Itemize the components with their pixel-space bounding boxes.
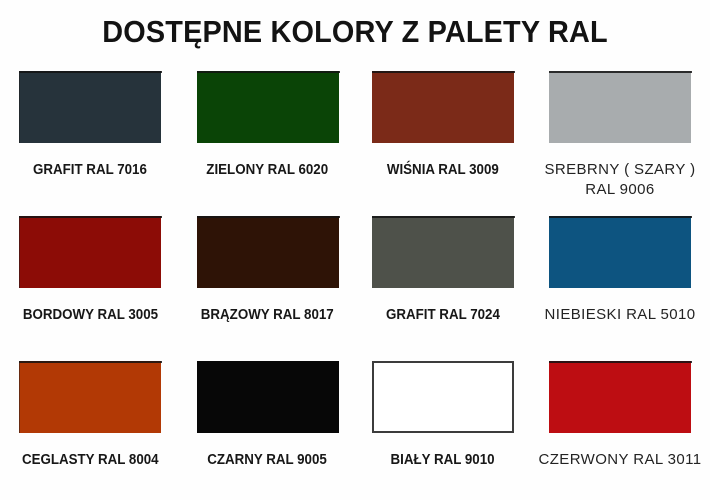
swatch-label-line1: BRĄZOWY RAL 8017	[201, 305, 334, 325]
swatch-cell-wisnia-3009[interactable]: WIŚNIA RAL 3009	[355, 66, 530, 211]
swatch-label-zielony-6020: ZIELONY RAL 6020	[207, 160, 329, 180]
swatch-label-wisnia-3009: WIŚNIA RAL 3009	[387, 160, 499, 180]
color-palette-sheet: DOSTĘPNE KOLORY Z PALETY RAL GRAFIT RAL …	[0, 0, 710, 500]
swatch-cell-czerwony-3011[interactable]: CZERWONY RAL 3011	[530, 356, 710, 496]
swatch-label-brazowy-8017: BRĄZOWY RAL 8017	[201, 305, 334, 325]
color-chip-niebieski-5010[interactable]	[549, 216, 691, 288]
swatch-cell-brazowy-8017[interactable]: BRĄZOWY RAL 8017	[180, 211, 355, 356]
swatch-label-line1: NIEBIESKI RAL 5010	[545, 305, 696, 325]
swatch-label-line1: GRAFIT RAL 7024	[386, 305, 500, 325]
swatch-cell-zielony-6020[interactable]: ZIELONY RAL 6020	[180, 66, 355, 211]
color-chip-zielony-6020[interactable]	[197, 71, 339, 143]
swatch-cell-bordowy-3005[interactable]: BORDOWY RAL 3005	[0, 211, 180, 356]
swatch-label-line1: BIAŁY RAL 9010	[390, 450, 494, 470]
swatch-label-srebrny-9006: SREBRNY ( SZARY ) RAL 9006	[544, 160, 695, 200]
color-chip-brazowy-8017[interactable]	[197, 216, 339, 288]
color-chip-grafit-7016[interactable]	[19, 71, 161, 143]
swatch-label-czarny-9005: CZARNY RAL 9005	[208, 450, 328, 470]
swatch-label-bordowy-3005: BORDOWY RAL 3005	[22, 305, 157, 325]
swatch-cell-niebieski-5010[interactable]: NIEBIESKI RAL 5010	[530, 211, 710, 356]
swatch-cell-grafit-7024[interactable]: GRAFIT RAL 7024	[355, 211, 530, 356]
swatch-label-line1: BORDOWY RAL 3005	[22, 305, 157, 325]
swatch-cell-czarny-9005[interactable]: CZARNY RAL 9005	[180, 356, 355, 496]
swatch-grid: GRAFIT RAL 7016 ZIELONY RAL 6020 WIŚNIA …	[0, 66, 710, 496]
swatch-label-line1: CZERWONY RAL 3011	[539, 450, 702, 470]
swatch-label-line1: SREBRNY ( SZARY )	[544, 160, 695, 180]
swatch-label-line1: CZARNY RAL 9005	[208, 450, 328, 470]
swatch-cell-grafit-7016[interactable]: GRAFIT RAL 7016	[0, 66, 180, 211]
swatch-cell-srebrny-9006[interactable]: SREBRNY ( SZARY ) RAL 9006	[530, 66, 710, 211]
color-chip-bialy-9010[interactable]	[372, 361, 514, 433]
color-chip-wisnia-3009[interactable]	[372, 71, 514, 143]
swatch-label-line1: GRAFIT RAL 7016	[33, 160, 147, 180]
color-chip-bordowy-3005[interactable]	[19, 216, 161, 288]
swatch-label-line1: ZIELONY RAL 6020	[207, 160, 329, 180]
swatch-label-line1: CEGLASTY RAL 8004	[22, 450, 159, 470]
swatch-label-grafit-7024: GRAFIT RAL 7024	[386, 305, 500, 325]
page-title: DOSTĘPNE KOLORY Z PALETY RAL	[25, 14, 685, 50]
swatch-label-bialy-9010: BIAŁY RAL 9010	[390, 450, 494, 470]
swatch-label-niebieski-5010: NIEBIESKI RAL 5010	[545, 305, 696, 325]
color-chip-czerwony-3011[interactable]	[549, 361, 691, 433]
color-chip-srebrny-9006[interactable]	[549, 71, 691, 143]
color-chip-ceglasty-8004[interactable]	[19, 361, 161, 433]
swatch-cell-ceglasty-8004[interactable]: CEGLASTY RAL 8004	[0, 356, 180, 496]
swatch-label-line1: WIŚNIA RAL 3009	[387, 160, 499, 180]
color-chip-czarny-9005[interactable]	[197, 361, 339, 433]
swatch-label-ceglasty-8004: CEGLASTY RAL 8004	[22, 450, 159, 470]
swatch-cell-bialy-9010[interactable]: BIAŁY RAL 9010	[355, 356, 530, 496]
swatch-label-line2: RAL 9006	[544, 180, 695, 200]
swatch-label-grafit-7016: GRAFIT RAL 7016	[33, 160, 147, 180]
swatch-label-czerwony-3011: CZERWONY RAL 3011	[539, 450, 702, 470]
color-chip-grafit-7024[interactable]	[372, 216, 514, 288]
